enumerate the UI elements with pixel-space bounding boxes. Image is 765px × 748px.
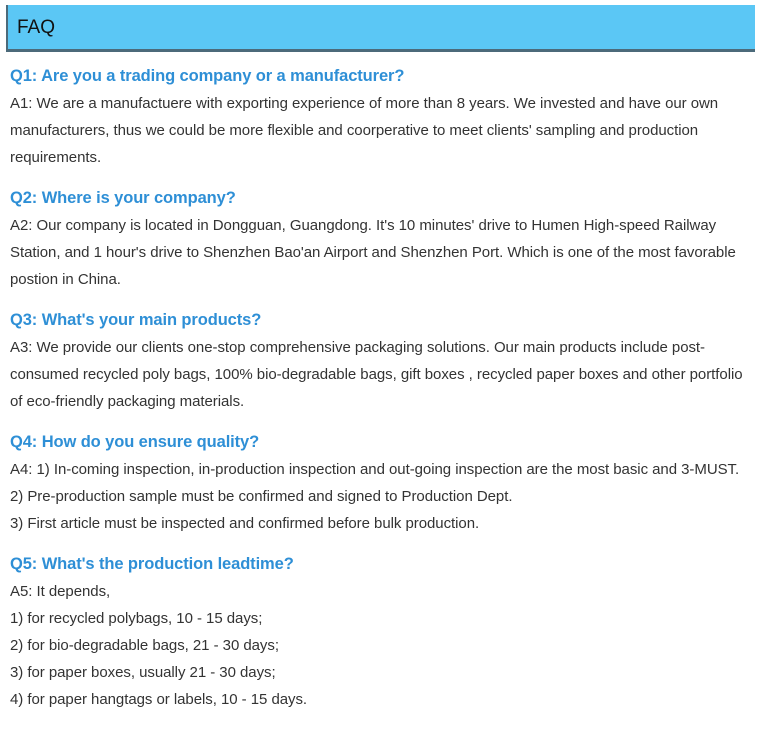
faq-item-5: Q5: What's the production leadtime? A5: … [10,551,755,713]
faq-answer-line: 3) for paper boxes, usually 21 - 30 days… [10,659,755,686]
faq-item-2: Q2: Where is your company? A2: Our compa… [10,185,755,293]
faq-answer-line: A3: We provide our clients one-stop comp… [10,334,755,415]
faq-question-1[interactable]: Q1: Are you a trading company or a manuf… [10,63,755,89]
faq-question-5[interactable]: Q5: What's the production leadtime? [10,551,755,577]
faq-answer-5: A5: It depends, 1) for recycled polybags… [10,578,755,713]
faq-answer-line: 3) First article must be inspected and c… [10,510,755,537]
faq-header-banner: FAQ [6,5,755,52]
faq-list: Q1: Are you a trading company or a manuf… [10,63,755,727]
faq-item-4: Q4: How do you ensure quality? A4: 1) In… [10,429,755,537]
faq-answer-3: A3: We provide our clients one-stop comp… [10,334,755,415]
faq-question-3[interactable]: Q3: What's your main products? [10,307,755,333]
faq-question-4[interactable]: Q4: How do you ensure quality? [10,429,755,455]
faq-item-3: Q3: What's your main products? A3: We pr… [10,307,755,415]
faq-page: FAQ Q1: Are you a trading company or a m… [0,0,765,748]
faq-answer-line: A5: It depends, [10,578,755,605]
page-title: FAQ [8,18,55,37]
faq-answer-line: A4: 1) In-coming inspection, in-producti… [10,456,755,483]
faq-answer-line: A1: We are a manufactuere with exporting… [10,90,755,171]
faq-answer-2: A2: Our company is located in Dongguan, … [10,212,755,293]
faq-answer-4: A4: 1) In-coming inspection, in-producti… [10,456,755,537]
faq-item-1: Q1: Are you a trading company or a manuf… [10,63,755,171]
faq-answer-line: 2) Pre-production sample must be confirm… [10,483,755,510]
faq-answer-line: A2: Our company is located in Dongguan, … [10,212,755,293]
faq-answer-1: A1: We are a manufactuere with exporting… [10,90,755,171]
faq-answer-line: 4) for paper hangtags or labels, 10 - 15… [10,686,755,713]
faq-question-2[interactable]: Q2: Where is your company? [10,185,755,211]
faq-answer-line: 1) for recycled polybags, 10 - 15 days; [10,605,755,632]
faq-answer-line: 2) for bio-degradable bags, 21 - 30 days… [10,632,755,659]
